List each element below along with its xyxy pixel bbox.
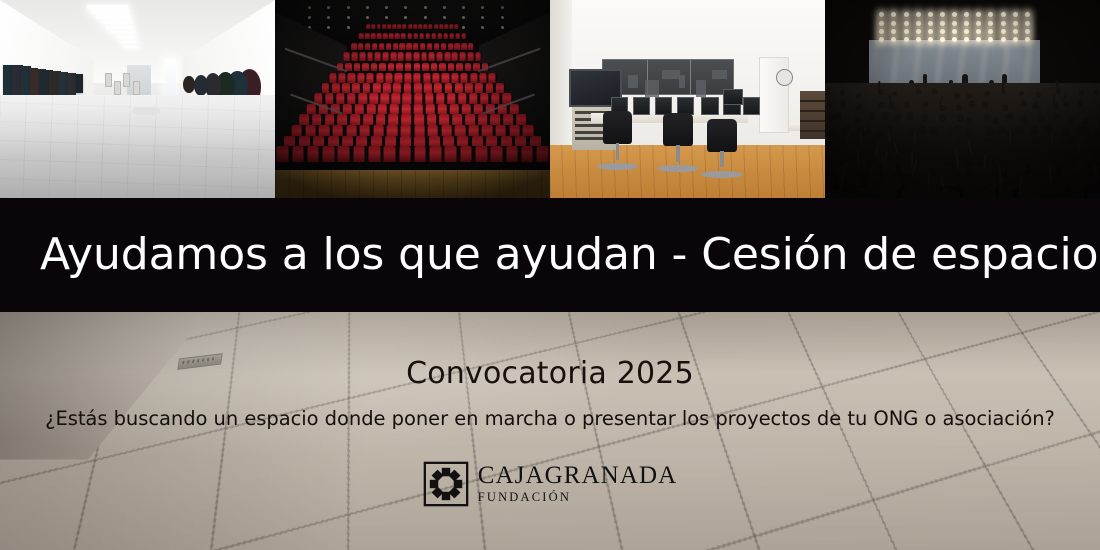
subtitle-question: ¿Estás buscando un espacio donde poner e… bbox=[45, 409, 1055, 429]
logo-name: CAJAGRANADA bbox=[478, 463, 678, 488]
logo-subtitle: FUNDACIÓN bbox=[478, 491, 678, 504]
promotional-banner: Ayudamos a los que ayudan - Cesión de es… bbox=[0, 0, 1100, 550]
headline-band: Ayudamos a los que ayudan - Cesión de es… bbox=[0, 198, 1100, 312]
gallery-bench bbox=[132, 107, 160, 115]
photo-art-gallery-corridor bbox=[0, 0, 275, 198]
logo-wordmark: CAJAGRANADA FUNDACIÓN bbox=[478, 463, 678, 504]
bottom-content: Convocatoria 2025 ¿Estás buscando un esp… bbox=[0, 312, 1100, 550]
photo-strip bbox=[0, 0, 1100, 198]
photo-control-room-office bbox=[550, 0, 825, 198]
page-title: Ayudamos a los que ayudan - Cesión de es… bbox=[0, 233, 1100, 277]
photo-theatre-auditorium bbox=[275, 0, 550, 198]
concert-vignette bbox=[825, 0, 1100, 198]
rosette-star-icon bbox=[423, 461, 469, 507]
office-glass-partition bbox=[602, 59, 734, 95]
cajagranada-logo[interactable]: CAJAGRANADA FUNDACIÓN bbox=[423, 461, 678, 507]
photo-concert-hall-crowd bbox=[825, 0, 1100, 198]
office-bookshelf bbox=[800, 91, 825, 139]
theatre-vignette bbox=[275, 0, 550, 198]
subtitle-convocatoria: Convocatoria 2025 bbox=[406, 359, 694, 389]
